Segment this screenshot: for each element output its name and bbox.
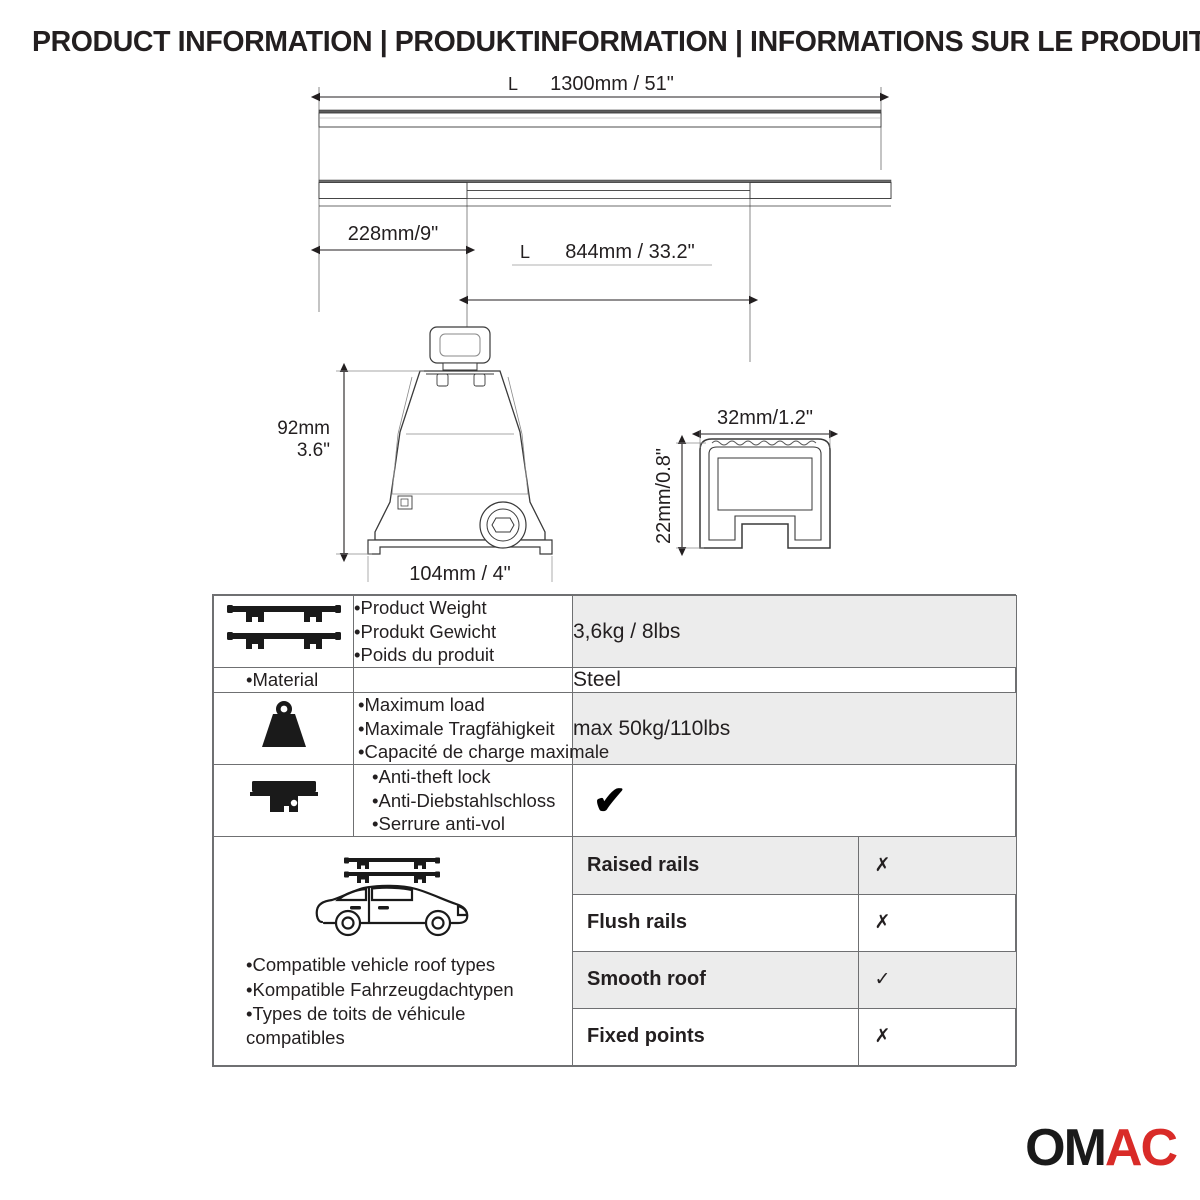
roof-type-mark-fixed-points: ✗	[858, 1008, 1016, 1065]
label-line: •Maximum load	[358, 693, 572, 717]
logo-text-ac: AC	[1105, 1119, 1176, 1177]
roof-type-mark-smooth-roof: ✓	[858, 951, 1016, 1008]
omac-logo: OMAC	[1025, 1122, 1176, 1174]
label-line: •Product Weight	[354, 596, 572, 620]
label-line: •Maximale Tragfähigkeit	[358, 717, 572, 741]
label-line: •Compatible vehicle roof types	[246, 953, 568, 977]
material-value: Steel	[573, 668, 1017, 693]
anti-theft-check-icon: ✔	[573, 781, 1016, 821]
table-row-compatibility: •Compatible vehicle roof types •Kompatib…	[214, 837, 1017, 1066]
page-title: PRODUCT INFORMATION | PRODUKTINFORMATION…	[32, 26, 1172, 59]
anti-theft-icon-cell	[214, 765, 354, 837]
compatibility-label-text: •Compatible vehicle roof types •Kompatib…	[218, 953, 568, 1049]
technical-drawing: L 1300mm / 51" 228mm/9" L 844mm / 33.2" …	[0, 62, 1200, 582]
car-with-rack-icon	[308, 929, 478, 946]
weight-icon	[253, 742, 315, 759]
bar-length-label: L	[508, 74, 518, 94]
label-line: •Anti-theft lock	[372, 765, 572, 789]
table-row: •Material Steel	[214, 668, 1017, 693]
roof-type-mark-flush-rails: ✗	[858, 894, 1016, 951]
end-offset-value: 228mm/9"	[348, 223, 438, 245]
max-load-icon-cell	[214, 693, 354, 765]
spread-value: 844mm / 33.2"	[565, 241, 694, 263]
table-row: •Anti-theft lock •Anti-Diebstahlschloss …	[214, 765, 1017, 837]
profile-height-value: 22mm/0.8"	[653, 448, 675, 544]
label-line: •Material	[246, 668, 572, 692]
bar-length-value: 1300mm / 51"	[550, 73, 674, 95]
roof-bars-icon	[224, 645, 344, 662]
roof-type-name: Raised rails	[573, 837, 858, 894]
foot-height-value-line2: 3.6"	[297, 440, 330, 461]
roof-type-row: Smooth roof ✓	[573, 951, 1016, 1008]
roof-types-table: Raised rails ✗ Flush rails ✗ Smooth roof…	[573, 837, 1016, 1065]
foot-height-value-line1: 92mm	[277, 418, 330, 439]
product-weight-label-cell: •Product Weight •Produkt Gewicht •Poids …	[354, 596, 573, 668]
table-row: •Product Weight •Produkt Gewicht •Poids …	[214, 596, 1017, 668]
spec-table: •Product Weight •Produkt Gewicht •Poids …	[212, 594, 1016, 1067]
anti-theft-value-cell: ✔	[573, 765, 1017, 837]
roof-type-name: Smooth roof	[573, 951, 858, 1008]
label-line: •Produkt Gewicht	[354, 620, 572, 644]
roof-type-name: Fixed points	[573, 1008, 858, 1065]
label-line: •Serrure anti-vol	[372, 812, 572, 836]
roof-type-row: Flush rails ✗	[573, 894, 1016, 951]
label-line: •Kompatible Fahrzeugdachtypen	[246, 978, 568, 1002]
roof-type-row: Fixed points ✗	[573, 1008, 1016, 1065]
roof-type-row: Raised rails ✗	[573, 837, 1016, 894]
foot-width-value: 104mm / 4"	[409, 563, 511, 582]
label-line: compatibles	[246, 1026, 568, 1050]
roof-type-mark-raised-rails: ✗	[858, 837, 1016, 894]
label-line: •Anti-Diebstahlschloss	[372, 789, 572, 813]
compatibility-label-cell: •Compatible vehicle roof types •Kompatib…	[214, 837, 573, 1066]
product-weight-value: 3,6kg / 8lbs	[573, 596, 1017, 668]
max-load-label-cell: •Maximum load •Maximale Tragfähigkeit •C…	[354, 693, 573, 765]
material-label-cell: •Material	[354, 668, 573, 693]
anti-theft-label-cell: •Anti-theft lock •Anti-Diebstahlschloss …	[354, 765, 573, 837]
lock-icon	[244, 812, 324, 829]
label-line: •Capacité de charge maximale	[358, 740, 572, 764]
product-information-page: PRODUCT INFORMATION | PRODUKTINFORMATION…	[0, 0, 1200, 1200]
product-weight-icon-cell	[214, 596, 354, 668]
logo-text-om: OM	[1025, 1119, 1105, 1177]
profile-width-value: 32mm/1.2"	[717, 407, 813, 429]
label-line: •Types de toits de véhicule	[246, 1002, 568, 1026]
max-load-value: max 50kg/110lbs	[573, 693, 1017, 765]
roof-type-name: Flush rails	[573, 894, 858, 951]
table-row: •Maximum load •Maximale Tragfähigkeit •C…	[214, 693, 1017, 765]
spread-label: L	[520, 242, 530, 262]
roof-types-cell: Raised rails ✗ Flush rails ✗ Smooth roof…	[573, 837, 1017, 1066]
label-line: •Poids du produit	[354, 643, 572, 667]
